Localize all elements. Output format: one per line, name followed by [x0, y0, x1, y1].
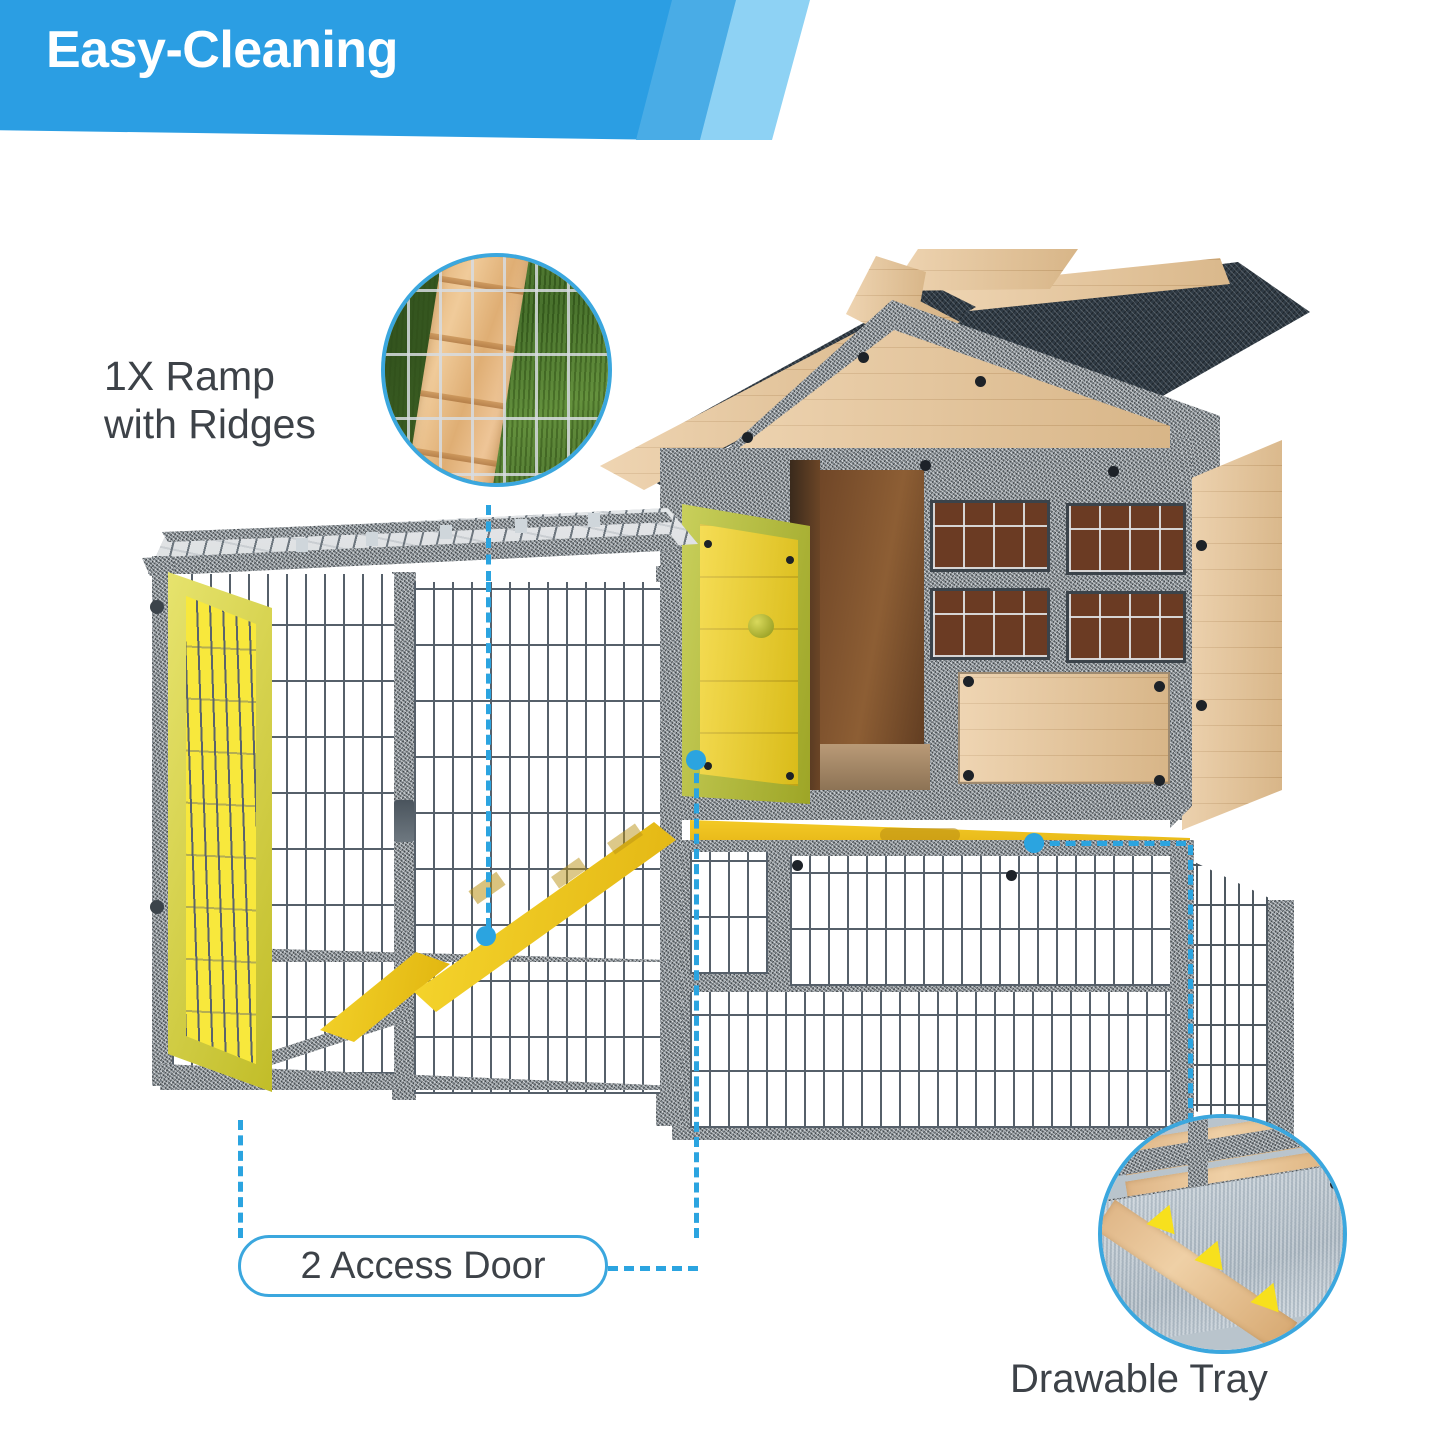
leader-line-access-door-right [694, 758, 699, 1238]
run-door-latch[interactable] [394, 800, 414, 842]
leader-line-tray-horizontal [1034, 841, 1186, 846]
gable-screw [742, 432, 753, 443]
infographic-canvas: Easy-Cleaning [0, 0, 1445, 1445]
panel-screw [1154, 681, 1165, 692]
hutch-interior-floor [812, 744, 930, 790]
right-rear-post [1268, 900, 1294, 1150]
enclosure-screw [792, 860, 803, 871]
panel-screw [963, 676, 974, 687]
plank-ridge [411, 447, 497, 466]
lower-mesh-panel [690, 992, 1176, 1128]
panel-screw [963, 770, 974, 781]
leader-line-run-roof [486, 505, 491, 581]
roof-clip [440, 525, 452, 539]
mesh-wire-horizontal [385, 473, 608, 476]
enclosure-screw [1006, 870, 1017, 881]
ramp-inset-photo [381, 253, 612, 487]
panel-screw [1154, 775, 1165, 786]
leader-dot-ramp [476, 926, 496, 946]
hutch-front-door[interactable] [700, 524, 798, 786]
lower-mesh-panel [690, 852, 768, 974]
hutch-window-pane [1066, 591, 1186, 663]
run-door-hinge [150, 600, 164, 614]
tray-screw [1330, 1180, 1339, 1189]
leader-line-ramp [486, 582, 491, 928]
gable-screw [858, 352, 869, 363]
access-door-callout-pill: 2 Access Door [238, 1235, 608, 1297]
run-door-hinge [150, 900, 164, 914]
leader-line-access-door-left [238, 1120, 243, 1238]
mesh-wire-horizontal [385, 353, 608, 356]
roof-clip [296, 538, 308, 552]
mesh-wire-horizontal [385, 417, 608, 420]
leader-dot-hutch-door [686, 750, 706, 770]
door-screw [786, 772, 794, 780]
hutch-window-pane [1066, 503, 1186, 575]
hutch-right-wall [1182, 440, 1282, 830]
hutch-screw [920, 460, 931, 471]
run-door-mesh [186, 596, 256, 1064]
mesh-wire-horizontal [385, 289, 608, 292]
roof-clip [515, 519, 527, 533]
leader-line-access-door-connector [608, 1266, 698, 1271]
ramp-callout-label: 1X Ramp with Ridges [104, 352, 316, 449]
hutch-access-panel[interactable] [958, 672, 1170, 784]
hutch-screw [1196, 540, 1207, 551]
page-title: Easy-Cleaning [46, 20, 398, 80]
door-knob[interactable] [748, 614, 774, 638]
gable-screw [975, 376, 986, 387]
hutch-screw [1196, 700, 1207, 711]
hutch-window-pane [930, 500, 1050, 572]
leader-line-tray-vertical [1188, 845, 1193, 1123]
access-door-callout-label: 2 Access Door [301, 1245, 546, 1288]
roof-clip [366, 532, 378, 546]
door-screw [704, 540, 712, 548]
hutch-interior [812, 470, 924, 790]
lower-mesh-panel [790, 856, 1176, 986]
plank-ridge [420, 390, 506, 409]
hutch-window-pane [930, 588, 1050, 660]
roof-clip [588, 513, 600, 527]
tray-callout-label: Drawable Tray [1010, 1356, 1268, 1403]
door-screw [786, 556, 794, 564]
hutch-screw [1108, 466, 1119, 477]
tray-inset-photo [1098, 1114, 1347, 1354]
